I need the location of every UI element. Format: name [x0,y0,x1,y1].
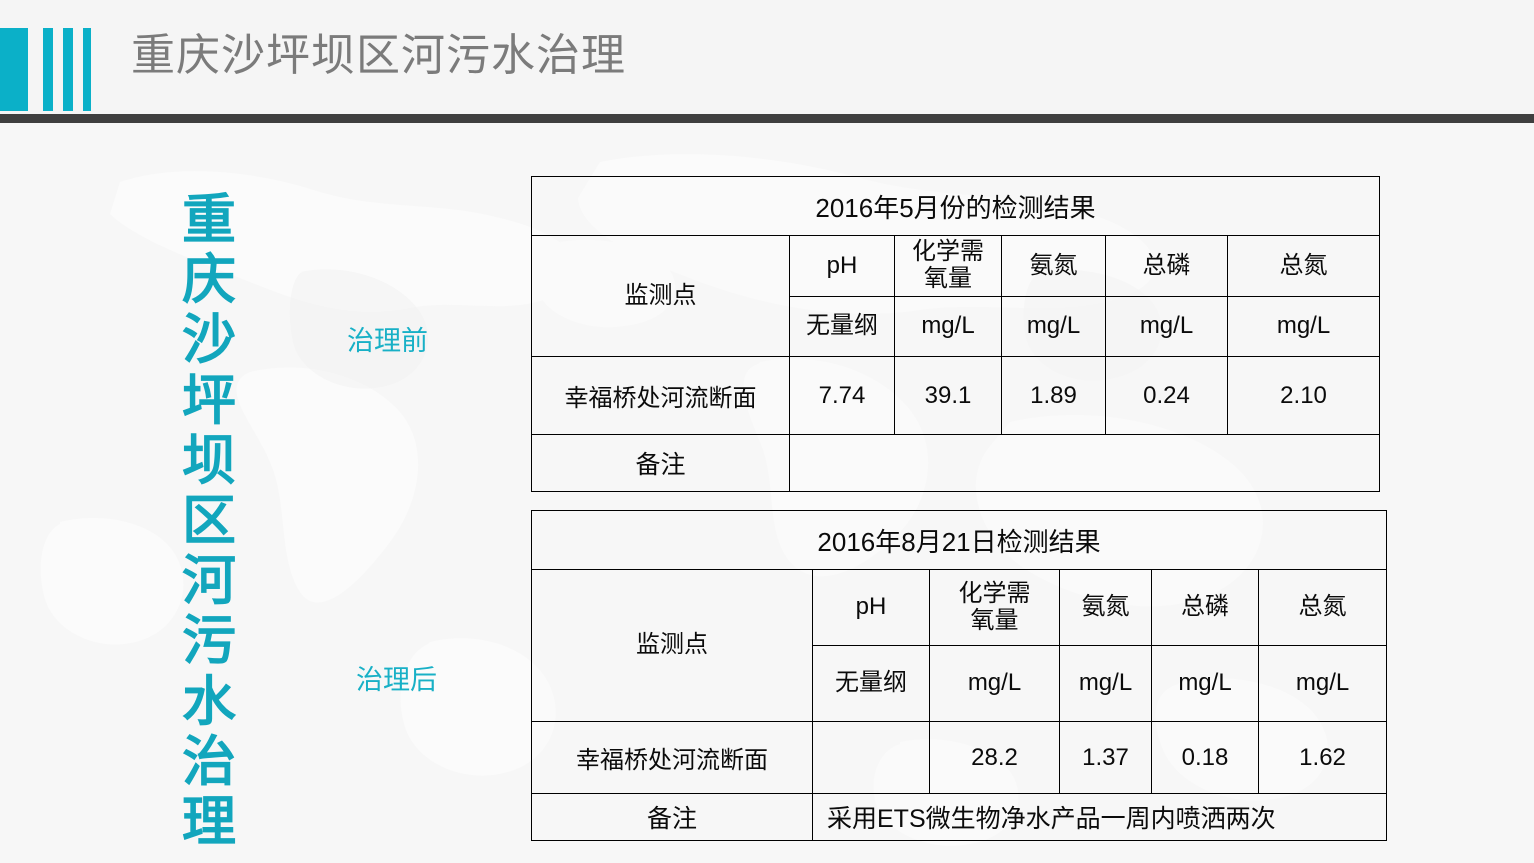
value-total-nitrogen: 1.62 [1259,722,1387,794]
table-row: 幸福桥处河流断面 7.74 39.1 1.89 0.24 2.10 [532,357,1380,435]
unit-ammonia-nitrogen: mg/L [1060,646,1152,722]
slide-header: 重庆沙坪坝区河污水治理 [0,0,1534,114]
note-label: 备注 [532,435,790,492]
value-ph [813,722,930,794]
accent-bar-2 [43,28,53,111]
table-row: 备注 [532,435,1380,492]
stage-label-after: 治理后 [356,658,437,697]
note-value: 采用ETS微生物净水产品一周内喷洒两次 [813,794,1387,841]
value-total-nitrogen: 2.10 [1228,357,1380,435]
vertical-title-char-7: 污 [172,611,246,671]
accent-bar-1 [0,28,28,111]
value-total-phosphorus: 0.24 [1106,357,1228,435]
results-table-before: 2016年5月份的检测结果 监测点 pH 化学需 氧量 氨氮 总磷 总氮 无量纲… [531,176,1380,492]
slide-canvas: 重庆沙坪坝区河污水治理 重庆沙坪坝区河污水治理 治理前 治理后 2016年5月份… [0,0,1534,863]
header-cod-line1: 化学需 [959,580,1031,607]
header-total-phosphorus: 总磷 [1152,570,1259,646]
vertical-title-char-1: 庆 [172,250,246,310]
header-ammonia-nitrogen: 氨氮 [1002,236,1106,297]
header-ammonia-nitrogen: 氨氮 [1060,570,1152,646]
table-row: 备注 采用ETS微生物净水产品一周内喷洒两次 [532,794,1387,841]
vertical-title-char-4: 坝 [172,431,246,491]
unit-total-nitrogen: mg/L [1228,297,1380,357]
header-total-phosphorus: 总磷 [1106,236,1228,297]
page-title: 重庆沙坪坝区河污水治理 [131,34,626,78]
value-ammonia-nitrogen: 1.89 [1002,357,1106,435]
note-label: 备注 [532,794,813,841]
accent-bar-4 [83,28,91,111]
vertical-slide-title: 重庆沙坪坝区河污水治理 [172,190,246,852]
vertical-title-char-0: 重 [172,190,246,250]
value-cod: 39.1 [895,357,1002,435]
header-monitoring-point: 监测点 [532,570,813,722]
unit-cod: mg/L [930,646,1060,722]
header-monitoring-point: 监测点 [532,236,790,357]
value-ammonia-nitrogen: 1.37 [1060,722,1152,794]
vertical-title-char-3: 坪 [172,371,246,431]
unit-total-nitrogen: mg/L [1259,646,1387,722]
value-ph: 7.74 [790,357,895,435]
unit-ph: 无量纲 [790,297,895,357]
header-cod-line2: 氧量 [971,607,1019,634]
note-value [790,435,1380,492]
table-row: 幸福桥处河流断面 28.2 1.37 0.18 1.62 [532,722,1387,794]
vertical-title-char-5: 区 [172,491,246,551]
vertical-title-char-8: 水 [172,672,246,732]
unit-ph: 无量纲 [813,646,930,722]
table-row: 监测点 pH 化学需 氧量 氨氮 总磷 总氮 [532,236,1380,297]
row-label-site: 幸福桥处河流断面 [532,357,790,435]
results-table-after: 2016年8月21日检测结果 监测点 pH 化学需 氧量 氨氮 总磷 总氮 无量… [531,510,1387,841]
header-total-nitrogen: 总氮 [1259,570,1387,646]
table-row: 2016年5月份的检测结果 [532,177,1380,236]
header-cod-line1: 化学需 [912,238,984,265]
header-total-nitrogen: 总氮 [1228,236,1380,297]
header-ph: pH [813,570,930,646]
vertical-title-char-9: 治 [172,732,246,792]
vertical-title-char-10: 理 [172,792,246,852]
header-cod: 化学需 氧量 [930,570,1060,646]
table-title: 2016年8月21日检测结果 [532,511,1387,570]
table-row: 监测点 pH 化学需 氧量 氨氮 总磷 总氮 [532,570,1387,646]
value-cod: 28.2 [930,722,1060,794]
vertical-title-char-6: 河 [172,551,246,611]
accent-bar-3 [63,28,73,111]
table-row: 2016年8月21日检测结果 [532,511,1387,570]
unit-ammonia-nitrogen: mg/L [1002,297,1106,357]
unit-cod: mg/L [895,297,1002,357]
header-divider [0,114,1534,123]
value-total-phosphorus: 0.18 [1152,722,1259,794]
vertical-title-char-2: 沙 [172,310,246,370]
unit-total-phosphorus: mg/L [1106,297,1228,357]
header-cod-line2: 氧量 [924,265,972,292]
unit-total-phosphorus: mg/L [1152,646,1259,722]
stage-label-before: 治理前 [347,319,428,358]
row-label-site: 幸福桥处河流断面 [532,722,813,794]
header-cod: 化学需 氧量 [895,236,1002,297]
header-ph: pH [790,236,895,297]
table-title: 2016年5月份的检测结果 [532,177,1380,236]
